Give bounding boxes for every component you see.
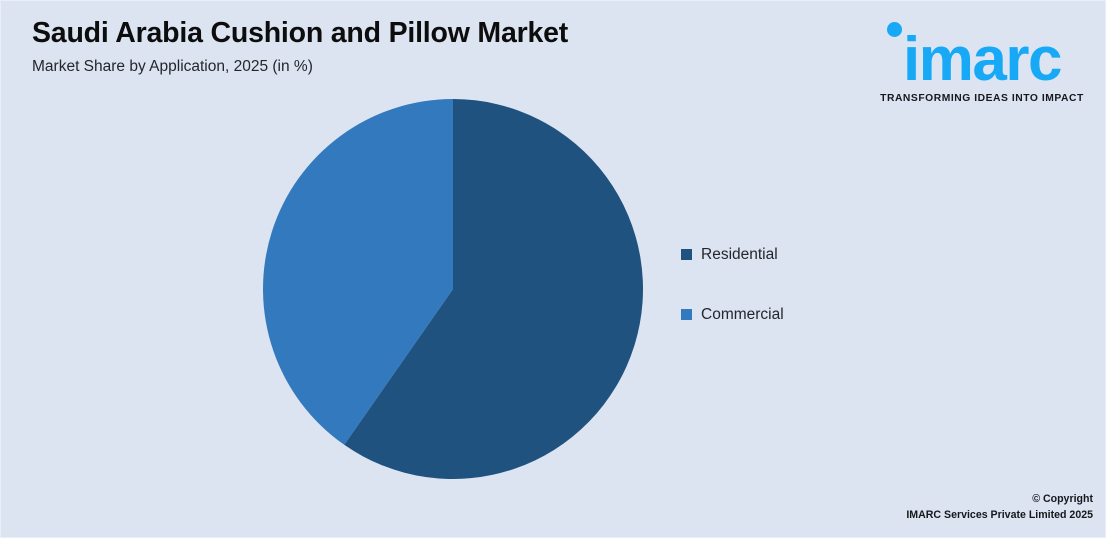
copyright-line-1: © Copyright [793,491,1093,507]
logo-tagline: TRANSFORMING IDEAS INTO IMPACT [871,93,1093,104]
legend-swatch-commercial [681,309,692,320]
legend-item-commercial[interactable]: Commercial [681,301,921,328]
logo-wordmark: imarc [871,29,1093,91]
chart-legend: Residential Commercial [681,241,921,361]
chart-canvas: Saudi Arabia Cushion and Pillow Market M… [0,0,1106,538]
chart-subtitle: Market Share by Application, 2025 (in %) [32,58,313,76]
copyright-notice: © Copyright IMARC Services Private Limit… [793,491,1093,523]
copyright-line-2: IMARC Services Private Limited 2025 [793,507,1093,523]
legend-swatch-residential [681,249,692,260]
legend-label-commercial: Commercial [701,306,784,324]
pie-chart-svg [263,99,643,479]
page-title: Saudi Arabia Cushion and Pillow Market [32,17,568,50]
legend-label-residential: Residential [701,246,778,264]
imarc-logo: imarc TRANSFORMING IDEAS INTO IMPACT [871,13,1093,101]
pie-chart [263,99,643,479]
legend-item-residential[interactable]: Residential [681,241,921,268]
